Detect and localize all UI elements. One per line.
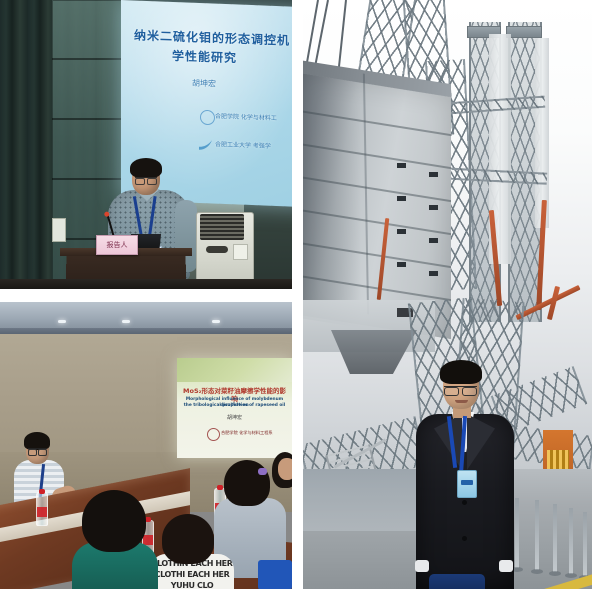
air-conditioner-handle [206,246,228,253]
speaker-hair [130,158,162,178]
ceiling-light-icon [212,320,220,323]
counterweight-slot [397,163,406,168]
rail-post [553,504,557,572]
hair-clip [258,468,267,475]
ceiling-light-icon [58,320,66,323]
coat-button [462,500,467,505]
counterweight-slot [397,229,406,234]
panel-lecture-presentation: 纳米二硫化钼的形态调控机 学性能研究 胡坤宏 合肥学院 化学与材料工 合肥工业大… [0,0,292,289]
counterweight-slot [397,262,406,267]
wall-panel-seam [52,118,122,120]
counterweight-slot [397,196,406,201]
slide-title-line2: 学性能研究 [172,47,237,66]
air-conditioner-display [233,244,248,260]
panel-crane-site-visit [303,0,592,589]
slide-author: 胡坤宏 [183,414,286,421]
eyeglasses-icon [135,177,157,184]
photo-collage: 纳米二硫化钼的形态调控机 学性能研究 胡坤宏 合肥学院 化学与材料工 合肥工业大… [0,0,600,600]
rail-post [535,500,539,570]
floor [0,279,292,289]
man-smile [455,400,468,403]
badge-text-bar [461,480,473,485]
rail-post [569,508,573,574]
university-seal-icon [207,428,220,441]
university-logo-icon [198,138,214,153]
visitor-badge [457,470,477,498]
slide-org: 合肥学院 化学与材料工程系 [221,430,273,436]
eyeglasses-icon [28,448,47,454]
slide-title-en-line2: the tribological properties of rapeseed … [183,403,286,409]
tower-cap [506,26,542,38]
audience-member-head [82,490,146,552]
wall-panel-seam [52,178,122,180]
blue-bag [429,574,485,589]
bottle-cap [217,485,223,490]
shirt-cuff [499,560,513,572]
eyeglasses-icon [444,386,477,395]
presenter-name-card-label: 报告人 [97,236,137,254]
bottle-label [37,507,47,517]
audience-member-face [278,458,292,480]
shirt-cuff [415,560,429,572]
counterweight-slot [429,172,438,177]
ceiling-edge [0,328,292,334]
counterweight-slot [429,205,438,210]
presenter-name-card: 报告人 [96,235,138,255]
panel-seminar-room: MoS₂形态对菜籽油摩擦学性能的影响 Morphological influen… [0,302,292,589]
audience-member-head [162,514,214,564]
ceiling-light-icon [122,320,130,323]
bottle-cap [39,489,45,494]
air-conditioner-grill [200,214,244,240]
audience-member-head [224,460,270,506]
wet-pavement-reflection [303,469,423,531]
wall-panel-seam [52,58,122,60]
counterweight-slot [429,271,438,276]
university-seal-icon [200,110,215,126]
slide-header-band [177,358,292,382]
blue-bag [258,560,292,589]
man-hair [440,360,482,384]
slide-org-line2: 合肥工业大学 考强学 [215,139,271,150]
rail-post [583,512,587,576]
coat-button [462,536,467,541]
rail-post [515,498,519,568]
light-switch [52,218,66,242]
slide-author: 胡坤宏 [192,78,216,90]
water-bottle [36,492,48,526]
counterweight-slot [429,238,438,243]
